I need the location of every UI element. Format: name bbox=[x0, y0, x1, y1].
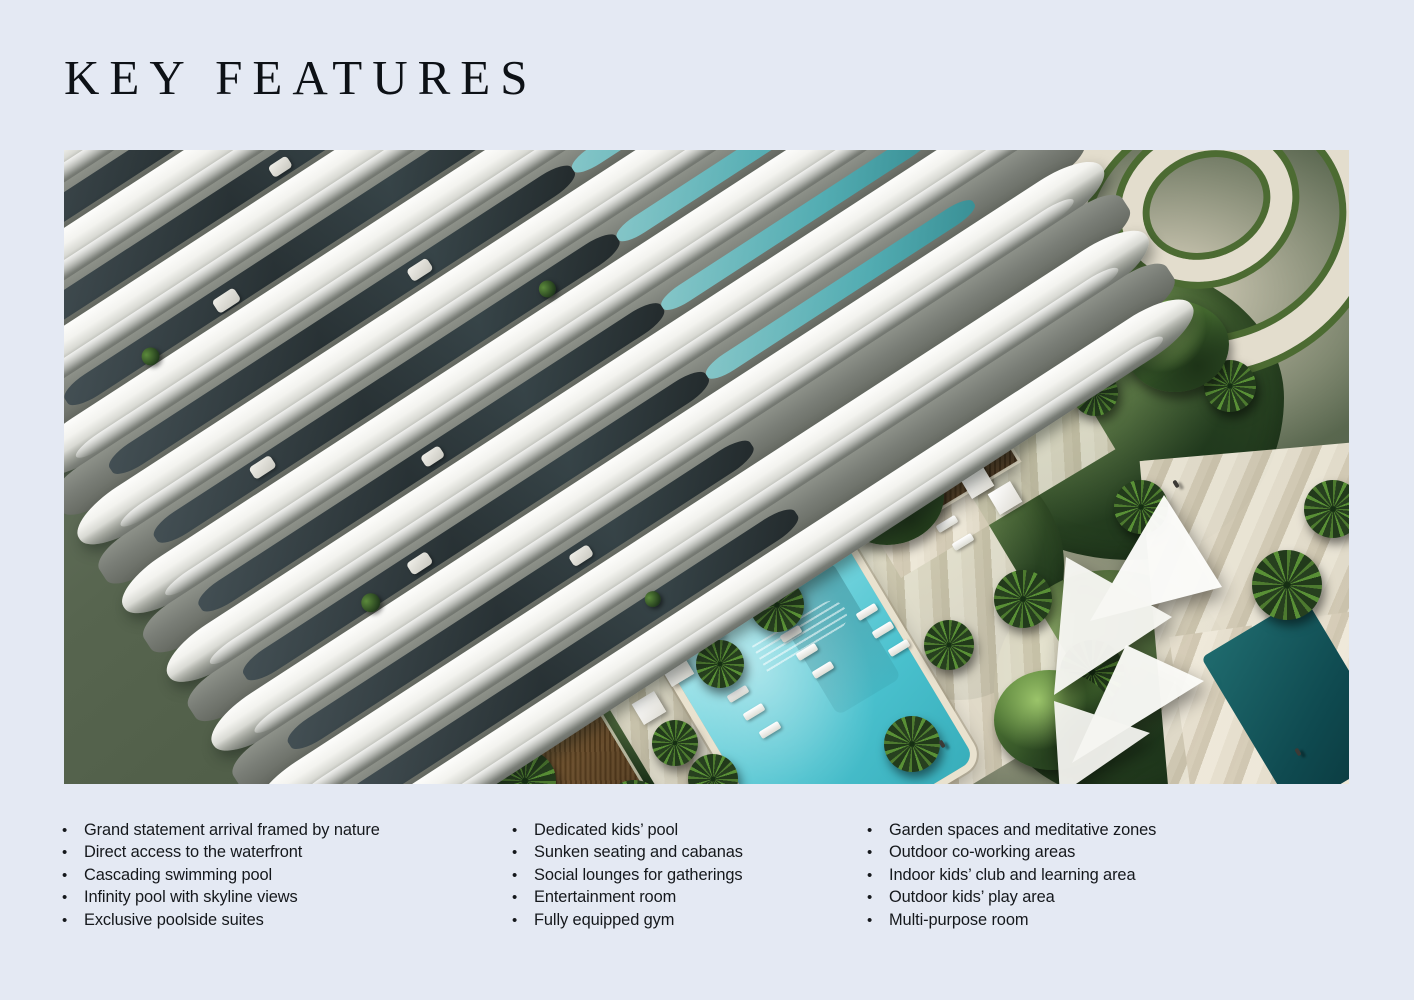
feature-label: Social lounges for gatherings bbox=[534, 865, 743, 887]
bullet-icon: • bbox=[867, 910, 889, 932]
feature-label: Cascading swimming pool bbox=[84, 865, 272, 887]
list-item: • Cascading swimming pool bbox=[62, 865, 512, 887]
features-column-2: • Dedicated kids’ pool • Sunken seating … bbox=[512, 820, 867, 932]
bullet-icon: • bbox=[512, 842, 534, 864]
bullet-icon: • bbox=[867, 820, 889, 842]
features-column-1: • Grand statement arrival framed by natu… bbox=[62, 820, 512, 932]
feature-label: Outdoor kids’ play area bbox=[889, 887, 1055, 909]
list-item: • Infinity pool with skyline views bbox=[62, 887, 512, 909]
feature-label: Grand statement arrival framed by nature bbox=[84, 820, 380, 842]
list-item: • Direct access to the waterfront bbox=[62, 842, 512, 864]
feature-label: Dedicated kids’ pool bbox=[534, 820, 678, 842]
list-item: • Fully equipped gym bbox=[512, 910, 867, 932]
palm-tree bbox=[994, 570, 1052, 628]
palm-tree bbox=[924, 620, 974, 670]
palm-tree bbox=[884, 716, 940, 772]
features-column-3: • Garden spaces and meditative zones • O… bbox=[867, 820, 1267, 932]
feature-label: Outdoor co-working areas bbox=[889, 842, 1075, 864]
feature-label: Direct access to the waterfront bbox=[84, 842, 302, 864]
list-item: • Outdoor co-working areas bbox=[867, 842, 1267, 864]
bullet-icon: • bbox=[512, 910, 534, 932]
bullet-icon: • bbox=[512, 887, 534, 909]
bullet-icon: • bbox=[867, 842, 889, 864]
feature-label: Entertainment room bbox=[534, 887, 676, 909]
bullet-icon: • bbox=[512, 820, 534, 842]
feature-label: Garden spaces and meditative zones bbox=[889, 820, 1156, 842]
feature-label: Exclusive poolside suites bbox=[84, 910, 264, 932]
feature-label: Sunken seating and cabanas bbox=[534, 842, 743, 864]
shade-sail-group bbox=[1054, 495, 1344, 784]
feature-label: Infinity pool with skyline views bbox=[84, 887, 298, 909]
list-item: • Social lounges for gatherings bbox=[512, 865, 867, 887]
list-item: • Indoor kids’ club and learning area bbox=[867, 865, 1267, 887]
bullet-icon: • bbox=[62, 842, 84, 864]
bullet-icon: • bbox=[62, 910, 84, 932]
bullet-icon: • bbox=[62, 865, 84, 887]
list-item: • Entertainment room bbox=[512, 887, 867, 909]
bullet-icon: • bbox=[512, 865, 534, 887]
feature-label: Fully equipped gym bbox=[534, 910, 674, 932]
key-features-slide: { "page": { "title": "KEY FEATURES", "ba… bbox=[0, 0, 1414, 1000]
bullet-icon: • bbox=[62, 887, 84, 909]
list-item: • Grand statement arrival framed by natu… bbox=[62, 820, 512, 842]
bullet-icon: • bbox=[62, 820, 84, 842]
list-item: • Exclusive poolside suites bbox=[62, 910, 512, 932]
feature-label: Indoor kids’ club and learning area bbox=[889, 865, 1135, 887]
list-item: • Multi-purpose room bbox=[867, 910, 1267, 932]
bullet-icon: • bbox=[867, 887, 889, 909]
hero-scene bbox=[64, 150, 1349, 784]
features-list: • Grand statement arrival framed by natu… bbox=[0, 820, 1414, 932]
list-item: • Sunken seating and cabanas bbox=[512, 842, 867, 864]
hero-image bbox=[64, 150, 1349, 784]
page-title: KEY FEATURES bbox=[64, 52, 537, 103]
list-item: • Garden spaces and meditative zones bbox=[867, 820, 1267, 842]
list-item: • Dedicated kids’ pool bbox=[512, 820, 867, 842]
list-item: • Outdoor kids’ play area bbox=[867, 887, 1267, 909]
feature-label: Multi-purpose room bbox=[889, 910, 1028, 932]
bullet-icon: • bbox=[867, 865, 889, 887]
